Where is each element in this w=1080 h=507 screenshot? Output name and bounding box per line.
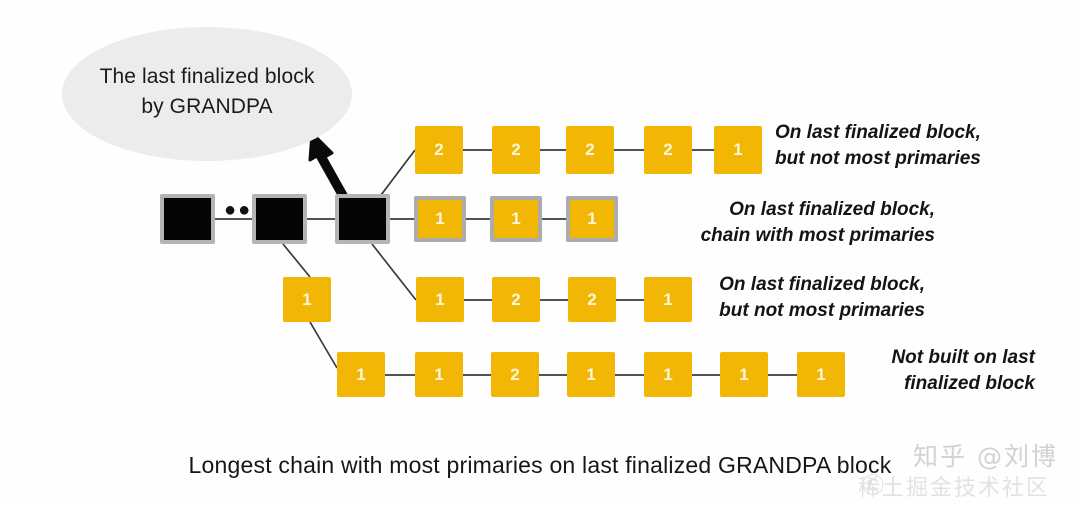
callout-line-1: The last finalized block bbox=[100, 62, 315, 92]
branch-row-1-label: On last finalized block,but not most pri… bbox=[775, 120, 981, 172]
branch-row-1-label-line-2: but not most primaries bbox=[775, 146, 981, 172]
branch-row-1-block-5[interactable]: 1 bbox=[714, 126, 762, 174]
branch-row-1-block-4[interactable]: 2 bbox=[644, 126, 692, 174]
branch-row-4-label-line-2: finalized block bbox=[0, 371, 1035, 397]
branch-row-1-block-2[interactable]: 2 bbox=[492, 126, 540, 174]
branch-row-1-block-3[interactable]: 2 bbox=[566, 126, 614, 174]
branch-row-4-label: Not built on lastfinalized block bbox=[0, 345, 1035, 397]
watermark-zhihu: 知乎 @刘博 bbox=[913, 437, 1058, 473]
diagram-canvas: The last finalized block by GRANDPA ●●● … bbox=[0, 0, 1080, 507]
branch-row-2-label: On last finalized block,chain with most … bbox=[0, 197, 935, 249]
arrow-up-left-icon bbox=[310, 133, 348, 198]
branch-row-1-label-line-1: On last finalized block, bbox=[775, 120, 981, 146]
callout-bubble: The last finalized block by GRANDPA bbox=[62, 27, 352, 161]
branch-row-2-label-line-1: On last finalized block, bbox=[0, 197, 935, 223]
branch-row-3-label-line-1: On last finalized block, bbox=[0, 272, 925, 298]
branch-row-2-label-line-2: chain with most primaries bbox=[0, 223, 935, 249]
branch-row-3-label-line-2: but not most primaries bbox=[0, 298, 925, 324]
branch-row-4-label-line-1: Not built on last bbox=[0, 345, 1035, 371]
branch-row-3-label: On last finalized block,but not most pri… bbox=[0, 272, 925, 324]
branch-row-1-block-1[interactable]: 2 bbox=[415, 126, 463, 174]
callout-line-2: by GRANDPA bbox=[100, 92, 315, 122]
watermark-juejin: 稀土掘金技术社区 bbox=[858, 470, 1050, 502]
edge-to-row1 bbox=[378, 150, 415, 199]
callout-text: The last finalized block by GRANDPA bbox=[100, 62, 315, 126]
